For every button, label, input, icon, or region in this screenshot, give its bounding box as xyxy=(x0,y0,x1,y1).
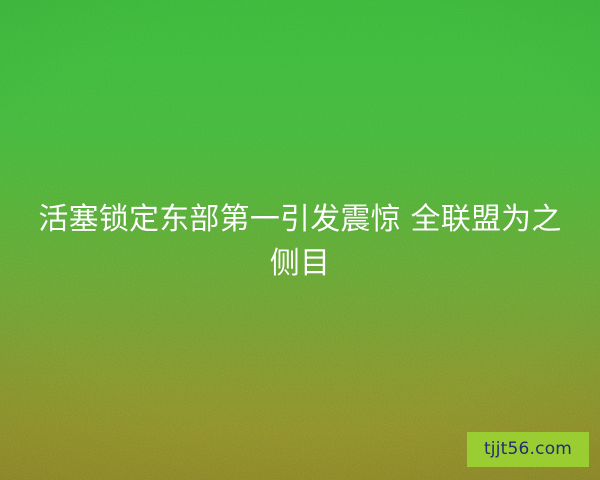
watermark-label: tjjt56.com xyxy=(484,441,572,458)
image-canvas: 活塞锁定东部第一引发震惊 全联盟为之侧目 tjjt56.com xyxy=(0,0,600,480)
watermark-badge: tjjt56.com xyxy=(467,432,589,467)
headline-text: 活塞锁定东部第一引发震惊 全联盟为之侧目 xyxy=(30,198,570,286)
